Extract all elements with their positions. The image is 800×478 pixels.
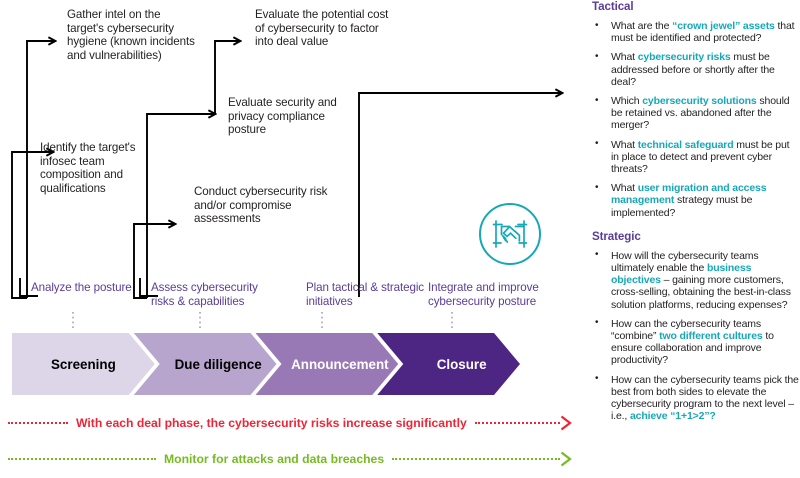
question-item: What user migration and access managemen… (592, 182, 800, 219)
chevron-label-screening: Screening (12, 333, 155, 395)
highlight-term: achieve “1+1>2”? (630, 410, 716, 422)
handshake-icon (492, 218, 528, 250)
highlight-term: “crown jewel” assets (672, 20, 775, 32)
question-item: How can the cybersecurity teams pick the… (592, 374, 800, 423)
questions-panel: Tactical What are the “crown jewel” asse… (592, 0, 800, 478)
risk-increase-text: With each deal phase, the cybersecurity … (68, 416, 475, 430)
chevron-label-due-diligence: Due diligence (160, 333, 277, 395)
node-evaluate-compliance: Evaluate security and privacy compliance… (228, 96, 340, 137)
chevron-label-announcement: Announcement (282, 333, 399, 395)
phase-label-integrate: Integrate and improve cybersecurity post… (428, 281, 560, 309)
chevron-label-closure: Closure (403, 333, 520, 395)
strategic-heading: Strategic (592, 230, 800, 243)
node-gather-intel: Gather intel on the target's cybersecuri… (67, 8, 195, 62)
question-item: Which cybersecurity solutions should be … (592, 95, 800, 132)
strategic-question-list: How will the cybersecurity teams ultimat… (592, 250, 800, 423)
node-evaluate-cost: Evaluate the potential cost of cybersecu… (255, 8, 393, 49)
highlight-term: cybersecurity solutions (642, 95, 756, 107)
question-text: Which (611, 95, 642, 107)
question-text: What (611, 51, 638, 63)
question-text: What are the (611, 20, 672, 32)
phase-label-plan: Plan tactical & strategic initiatives (306, 281, 424, 309)
question-item: What are the “crown jewel” assets that m… (592, 20, 800, 44)
phase-label-analyze: Analyze the posture (31, 281, 141, 295)
highlight-term: cybersecurity risks (638, 51, 731, 63)
infographic-root: Gather intel on the target's cybersecuri… (0, 0, 800, 478)
monitor-arrow-head (560, 451, 572, 467)
question-item: What technical safeguard must be put in … (592, 139, 800, 176)
node-conduct-assessments: Conduct cybersecurity risk and/or compro… (194, 185, 330, 226)
monitor-breaches-text: Monitor for attacks and data breaches (156, 452, 392, 466)
flow-diagram: Gather intel on the target's cybersecuri… (0, 0, 580, 478)
handshake-badge (479, 203, 541, 265)
highlight-term: technical safeguard (638, 139, 734, 151)
tactical-heading: Tactical (592, 0, 800, 13)
question-text: What (611, 182, 638, 194)
phase-chevron-labels: Screening Due diligence Announcement Clo… (12, 333, 572, 395)
tactical-question-list: What are the “crown jewel” assets that m… (592, 20, 800, 219)
question-item: What cybersecurity risks must be address… (592, 51, 800, 88)
risk-increase-arrow: With each deal phase, the cybersecurity … (8, 412, 572, 434)
phase-label-assess: Assess cybersecurity risks & capabilitie… (151, 281, 275, 309)
question-text: What (611, 139, 638, 151)
question-item: How can the cybersecurity teams “combine… (592, 318, 800, 367)
node-identify-infosec: Identify the target's infosec team compo… (40, 141, 160, 195)
highlight-term: two different cultures (659, 330, 762, 342)
risk-arrow-head (560, 415, 572, 431)
question-item: How will the cybersecurity teams ultimat… (592, 250, 800, 311)
monitor-breaches-arrow: Monitor for attacks and data breaches (8, 448, 572, 470)
